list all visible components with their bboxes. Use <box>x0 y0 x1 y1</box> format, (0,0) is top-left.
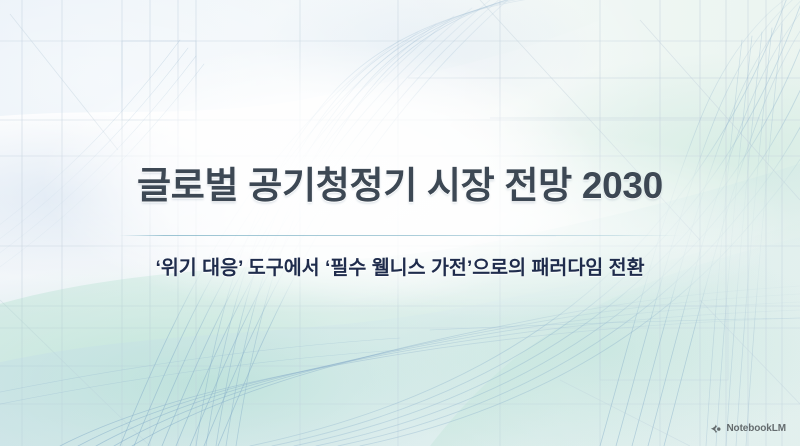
slide-content: 글로벌 공기청정기 시장 전망 2030 ‘위기 대응’ 도구에서 ‘필수 웰니… <box>0 0 800 446</box>
notebooklm-logo-icon <box>710 423 722 435</box>
title-divider <box>119 235 681 236</box>
notebooklm-watermark: NotebookLM <box>710 423 786 435</box>
slide-subtitle: ‘위기 대응’ 도구에서 ‘필수 웰니스 가전’으로의 패러다임 전환 <box>155 255 644 281</box>
watermark-label: NotebookLM <box>726 424 786 434</box>
presentation-slide: 글로벌 공기청정기 시장 전망 2030 ‘위기 대응’ 도구에서 ‘필수 웰니… <box>0 0 800 446</box>
page-title: 글로벌 공기청정기 시장 전망 2030 <box>137 165 663 208</box>
